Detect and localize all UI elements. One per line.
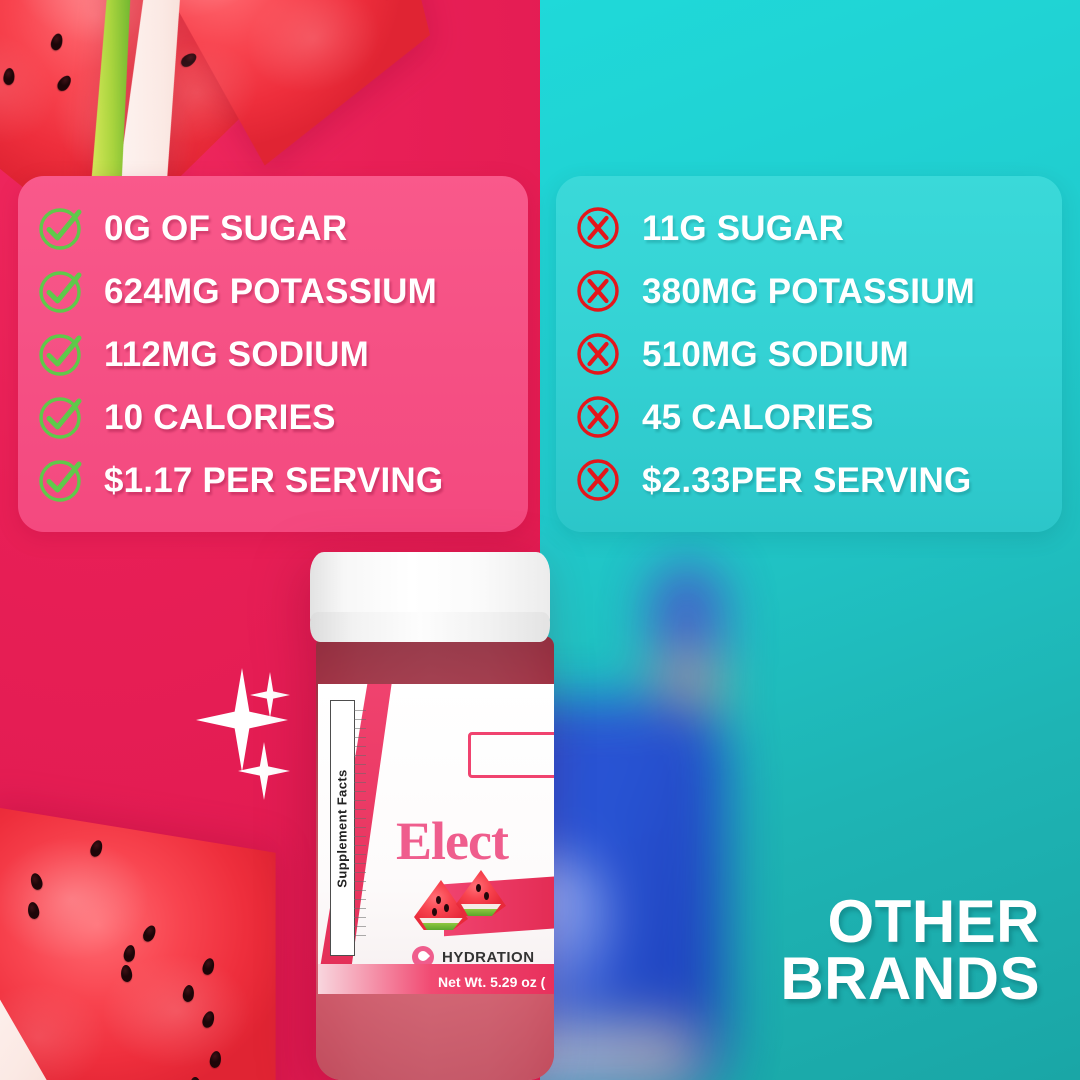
- watermelon-slice-bottom-left: [0, 800, 302, 1080]
- sparkle-icon: [238, 742, 290, 800]
- watermelon-seed: [55, 74, 74, 94]
- other-brands-drawbacks-card: 11G SUGAR 380MG POTASSIUM 510MG SODIUM: [556, 176, 1062, 532]
- watermelon-seed: [182, 984, 195, 1002]
- drawback-label: $2.33PER SERVING: [642, 463, 971, 498]
- benefit-row: 112MG SODIUM: [36, 324, 508, 384]
- benefit-label: 0G OF SUGAR: [104, 211, 347, 246]
- watermelon-seed: [163, 0, 183, 17]
- watermelon-veins: [0, 800, 302, 1080]
- watermelon-seed: [128, 90, 148, 110]
- other-brands-line-1: OTHER: [780, 893, 1040, 951]
- left-panel-our-product: [0, 0, 540, 1080]
- x-circle-icon: [574, 267, 622, 315]
- watermelon-seed: [201, 957, 216, 976]
- benefit-row: 510MG SODIUM: [574, 324, 1042, 384]
- check-circle-icon: [36, 393, 84, 441]
- watermelon-seed: [49, 33, 64, 52]
- benefit-row: 624MG POTASSIUM: [36, 261, 508, 321]
- drawback-label: 380MG POTASSIUM: [642, 274, 975, 309]
- sparkle-icon: [196, 668, 288, 772]
- benefit-row: $2.33PER SERVING: [574, 450, 1042, 510]
- bottle-highlight-blur: [540, 860, 604, 1000]
- benefit-label: 624MG POTASSIUM: [104, 274, 437, 309]
- check-circle-icon: [36, 267, 84, 315]
- x-circle-icon: [574, 393, 622, 441]
- watermelon-flesh: [85, 0, 451, 192]
- bottle-base-band-blur: [540, 1020, 704, 1080]
- check-circle-icon: [36, 204, 84, 252]
- check-circle-icon: [36, 456, 84, 504]
- other-brands-line-2: BRANDS: [780, 950, 1040, 1008]
- drawback-label: 11G SUGAR: [642, 211, 844, 246]
- watermelon-seed: [208, 1050, 222, 1069]
- bottle-neck-blur: [656, 648, 718, 738]
- benefit-row: 0G OF SUGAR: [36, 198, 508, 258]
- watermelon-seed: [201, 1010, 217, 1030]
- watermelon-seed: [120, 964, 133, 982]
- bottle-body-blur: [540, 700, 726, 1080]
- watermelon-rind-white: [114, 0, 195, 202]
- watermelon-rind-white: [0, 920, 135, 1080]
- sparkle-icon: [250, 672, 290, 718]
- x-circle-icon: [574, 456, 622, 504]
- benefit-row: 45 CALORIES: [574, 387, 1042, 447]
- drawback-label: 510MG SODIUM: [642, 337, 909, 372]
- watermelon-seed: [2, 67, 15, 85]
- watermelon-seed: [88, 838, 104, 858]
- watermelon-rind-green: [0, 948, 107, 1080]
- watermelon-seed: [122, 944, 136, 963]
- benefit-label: $1.17 PER SERVING: [104, 463, 443, 498]
- watermelon-seed: [27, 901, 41, 920]
- benefit-label: 112MG SODIUM: [104, 337, 369, 372]
- other-brands-heading: OTHER BRANDS: [780, 893, 1040, 1008]
- benefit-label: 10 CALORIES: [104, 400, 336, 435]
- drawback-label: 45 CALORIES: [642, 400, 874, 435]
- right-panel-other-brands: OTHER BRANDS: [540, 0, 1080, 1080]
- watermelon-slice-top-left-b: [85, 0, 451, 192]
- comparison-infographic: OTHER BRANDS 0G OF SUGAR 624MG POTASSIUM: [0, 0, 1080, 1080]
- benefit-row: 10 CALORIES: [36, 387, 508, 447]
- watermelon-seed: [29, 871, 44, 890]
- watermelon-seed: [179, 51, 199, 70]
- check-circle-icon: [36, 330, 84, 378]
- benefit-row: 11G SUGAR: [574, 198, 1042, 258]
- watermelon-veins: [85, 0, 451, 192]
- watermelon-seed: [140, 924, 157, 944]
- benefit-row: $1.17 PER SERVING: [36, 450, 508, 510]
- x-circle-icon: [574, 204, 622, 252]
- bottle-cap-blur: [652, 566, 722, 686]
- watermelon-flesh: [0, 800, 302, 1080]
- bottle-top-band-blur: [540, 720, 714, 760]
- x-circle-icon: [574, 330, 622, 378]
- our-product-benefits-card: 0G OF SUGAR 624MG POTASSIUM 112MG SODIUM: [18, 176, 528, 532]
- benefit-row: 380MG POTASSIUM: [574, 261, 1042, 321]
